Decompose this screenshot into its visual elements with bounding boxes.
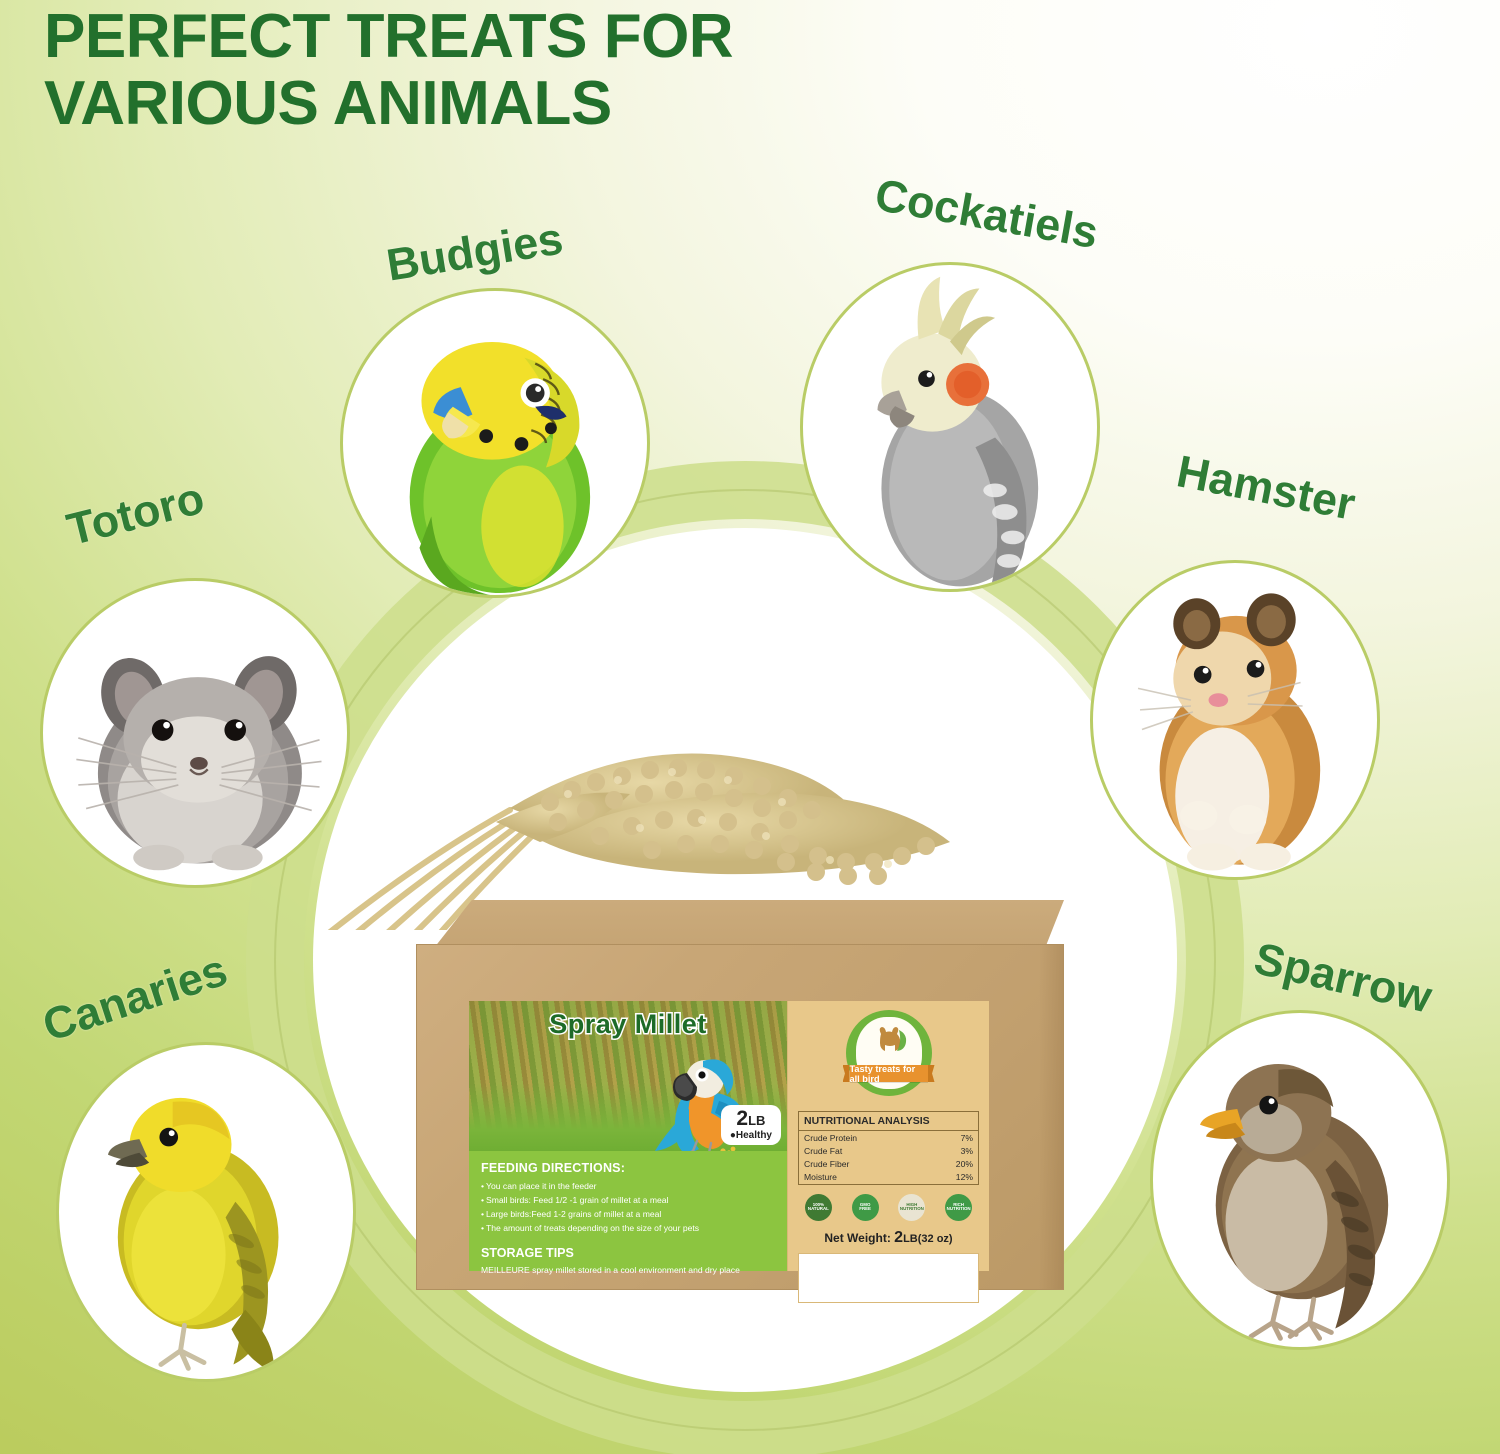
logo-scalloped-badge: MEILLEURE Tasty treats for all bird <box>846 1010 932 1096</box>
storage-tips-text: MEILLEURE spray millet stored in a cool … <box>481 1264 777 1276</box>
millet-spray-illustration <box>300 690 1000 930</box>
label-left-panel: Spray Millet <box>469 1001 787 1271</box>
product-box: Spray Millet <box>416 900 1076 1290</box>
weight-badge-amount: 2 <box>736 1107 748 1130</box>
certification-badge-plant: HIGHNUTRITION <box>898 1194 925 1221</box>
table-row: Moisture 12% <box>799 1171 978 1184</box>
box-top-flap <box>434 900 1064 948</box>
nutrition-heading: NUTRITIONAL ANALYSIS <box>799 1112 978 1131</box>
animal-circle-cockatiels <box>800 262 1100 592</box>
product-title: Spray Millet <box>469 1009 787 1040</box>
table-row: Crude Protein 7% <box>799 1131 978 1144</box>
sparrow-bird-icon <box>1153 1013 1447 1346</box>
animal-circle-budgies <box>340 288 650 598</box>
certification-badge-rich: RICHNUTRITION <box>945 1194 972 1221</box>
certification-badge-natural: 100%NATURAL <box>805 1194 832 1221</box>
nutrition-name: Crude Fat <box>799 1144 924 1157</box>
page-title-line-2: VARIOUS ANIMALS <box>44 71 1004 138</box>
storage-tips-heading: STORAGE TIPS <box>481 1246 777 1260</box>
nutrition-value: 20% <box>924 1157 978 1170</box>
nutrition-name: Moisture <box>799 1171 924 1184</box>
table-row: Crude Fiber 20% <box>799 1157 978 1170</box>
label-right-panel: MEILLEURE Tasty treats for all bird NUTR… <box>787 1001 989 1271</box>
feeding-directions-heading: FEEDING DIRECTIONS: <box>481 1161 777 1175</box>
certification-badges: 100%NATURAL GMOFREE HIGHNUTRITION RICHNU… <box>795 1194 982 1221</box>
dog-and-leaf-icon <box>869 1026 909 1056</box>
feeding-item: Small birds: Feed 1/2 -1 grain of millet… <box>481 1194 777 1208</box>
page-title-line-1: PERFECT TREATS FOR <box>44 2 733 71</box>
nutrition-name: Crude Fiber <box>799 1157 924 1170</box>
blank-label-area <box>798 1253 979 1303</box>
net-weight: Net Weight: 2LB(32 oz) <box>788 1229 989 1247</box>
net-weight-unit: LB <box>903 1233 918 1245</box>
box-front-face: Spray Millet <box>416 944 1064 1290</box>
net-weight-prefix: Net Weight: <box>824 1231 894 1245</box>
budgerigar-parakeet-icon <box>343 291 647 595</box>
animal-circle-sparrow <box>1150 1010 1450 1350</box>
animal-circle-hamster <box>1090 560 1380 880</box>
yellow-canary-icon <box>59 1045 353 1378</box>
cockatiel-bird-icon <box>803 265 1097 588</box>
brand-tagline-ribbon: Tasty treats for all bird <box>850 1065 928 1082</box>
feeding-directions-list: You can place it in the feeder Small bir… <box>481 1180 777 1236</box>
net-weight-amount: 2 <box>894 1229 903 1246</box>
feeding-item: Large birds:Feed 1-2 grains of millet at… <box>481 1208 777 1222</box>
nutrition-name: Crude Protein <box>799 1131 924 1144</box>
table-row: Crude Fat 3% <box>799 1144 978 1157</box>
nutrition-value: 7% <box>924 1131 978 1144</box>
nutrition-value: 3% <box>924 1144 978 1157</box>
weight-badge: 2LB ●Healthy <box>721 1105 781 1145</box>
certification-badge-gmo-free: GMOFREE <box>852 1194 879 1221</box>
hamster-standing-icon <box>1093 563 1377 876</box>
nutrition-rows: Crude Protein 7% Crude Fat 3% Crude Fibe… <box>799 1131 978 1184</box>
feeding-item: You can place it in the feeder <box>481 1180 777 1194</box>
product-label: Spray Millet <box>469 1001 989 1271</box>
animal-circle-canaries <box>56 1042 356 1382</box>
label-hero-image: Spray Millet <box>469 1001 787 1151</box>
weight-badge-unit: LB <box>748 1113 765 1128</box>
feeding-directions: FEEDING DIRECTIONS: You can place it in … <box>469 1151 787 1236</box>
net-weight-metric: (32 oz) <box>918 1233 953 1245</box>
nutrition-value: 12% <box>924 1171 978 1184</box>
weight-badge-tagline: ●Healthy <box>730 1131 772 1141</box>
nutrition-table: NUTRITIONAL ANALYSIS Crude Protein 7% Cr… <box>798 1111 979 1185</box>
feeding-item: The amount of treats depending on the si… <box>481 1222 777 1236</box>
storage-tips: STORAGE TIPS MEILLEURE spray millet stor… <box>469 1236 787 1276</box>
brand-logo: MEILLEURE Tasty treats for all bird <box>788 1001 989 1105</box>
brand-tagline: Tasty treats for all bird <box>850 1064 928 1084</box>
page-title: PERFECT TREATS FOR VARIOUS ANIMALS <box>44 4 1004 138</box>
millet-sprays <box>300 690 1000 930</box>
